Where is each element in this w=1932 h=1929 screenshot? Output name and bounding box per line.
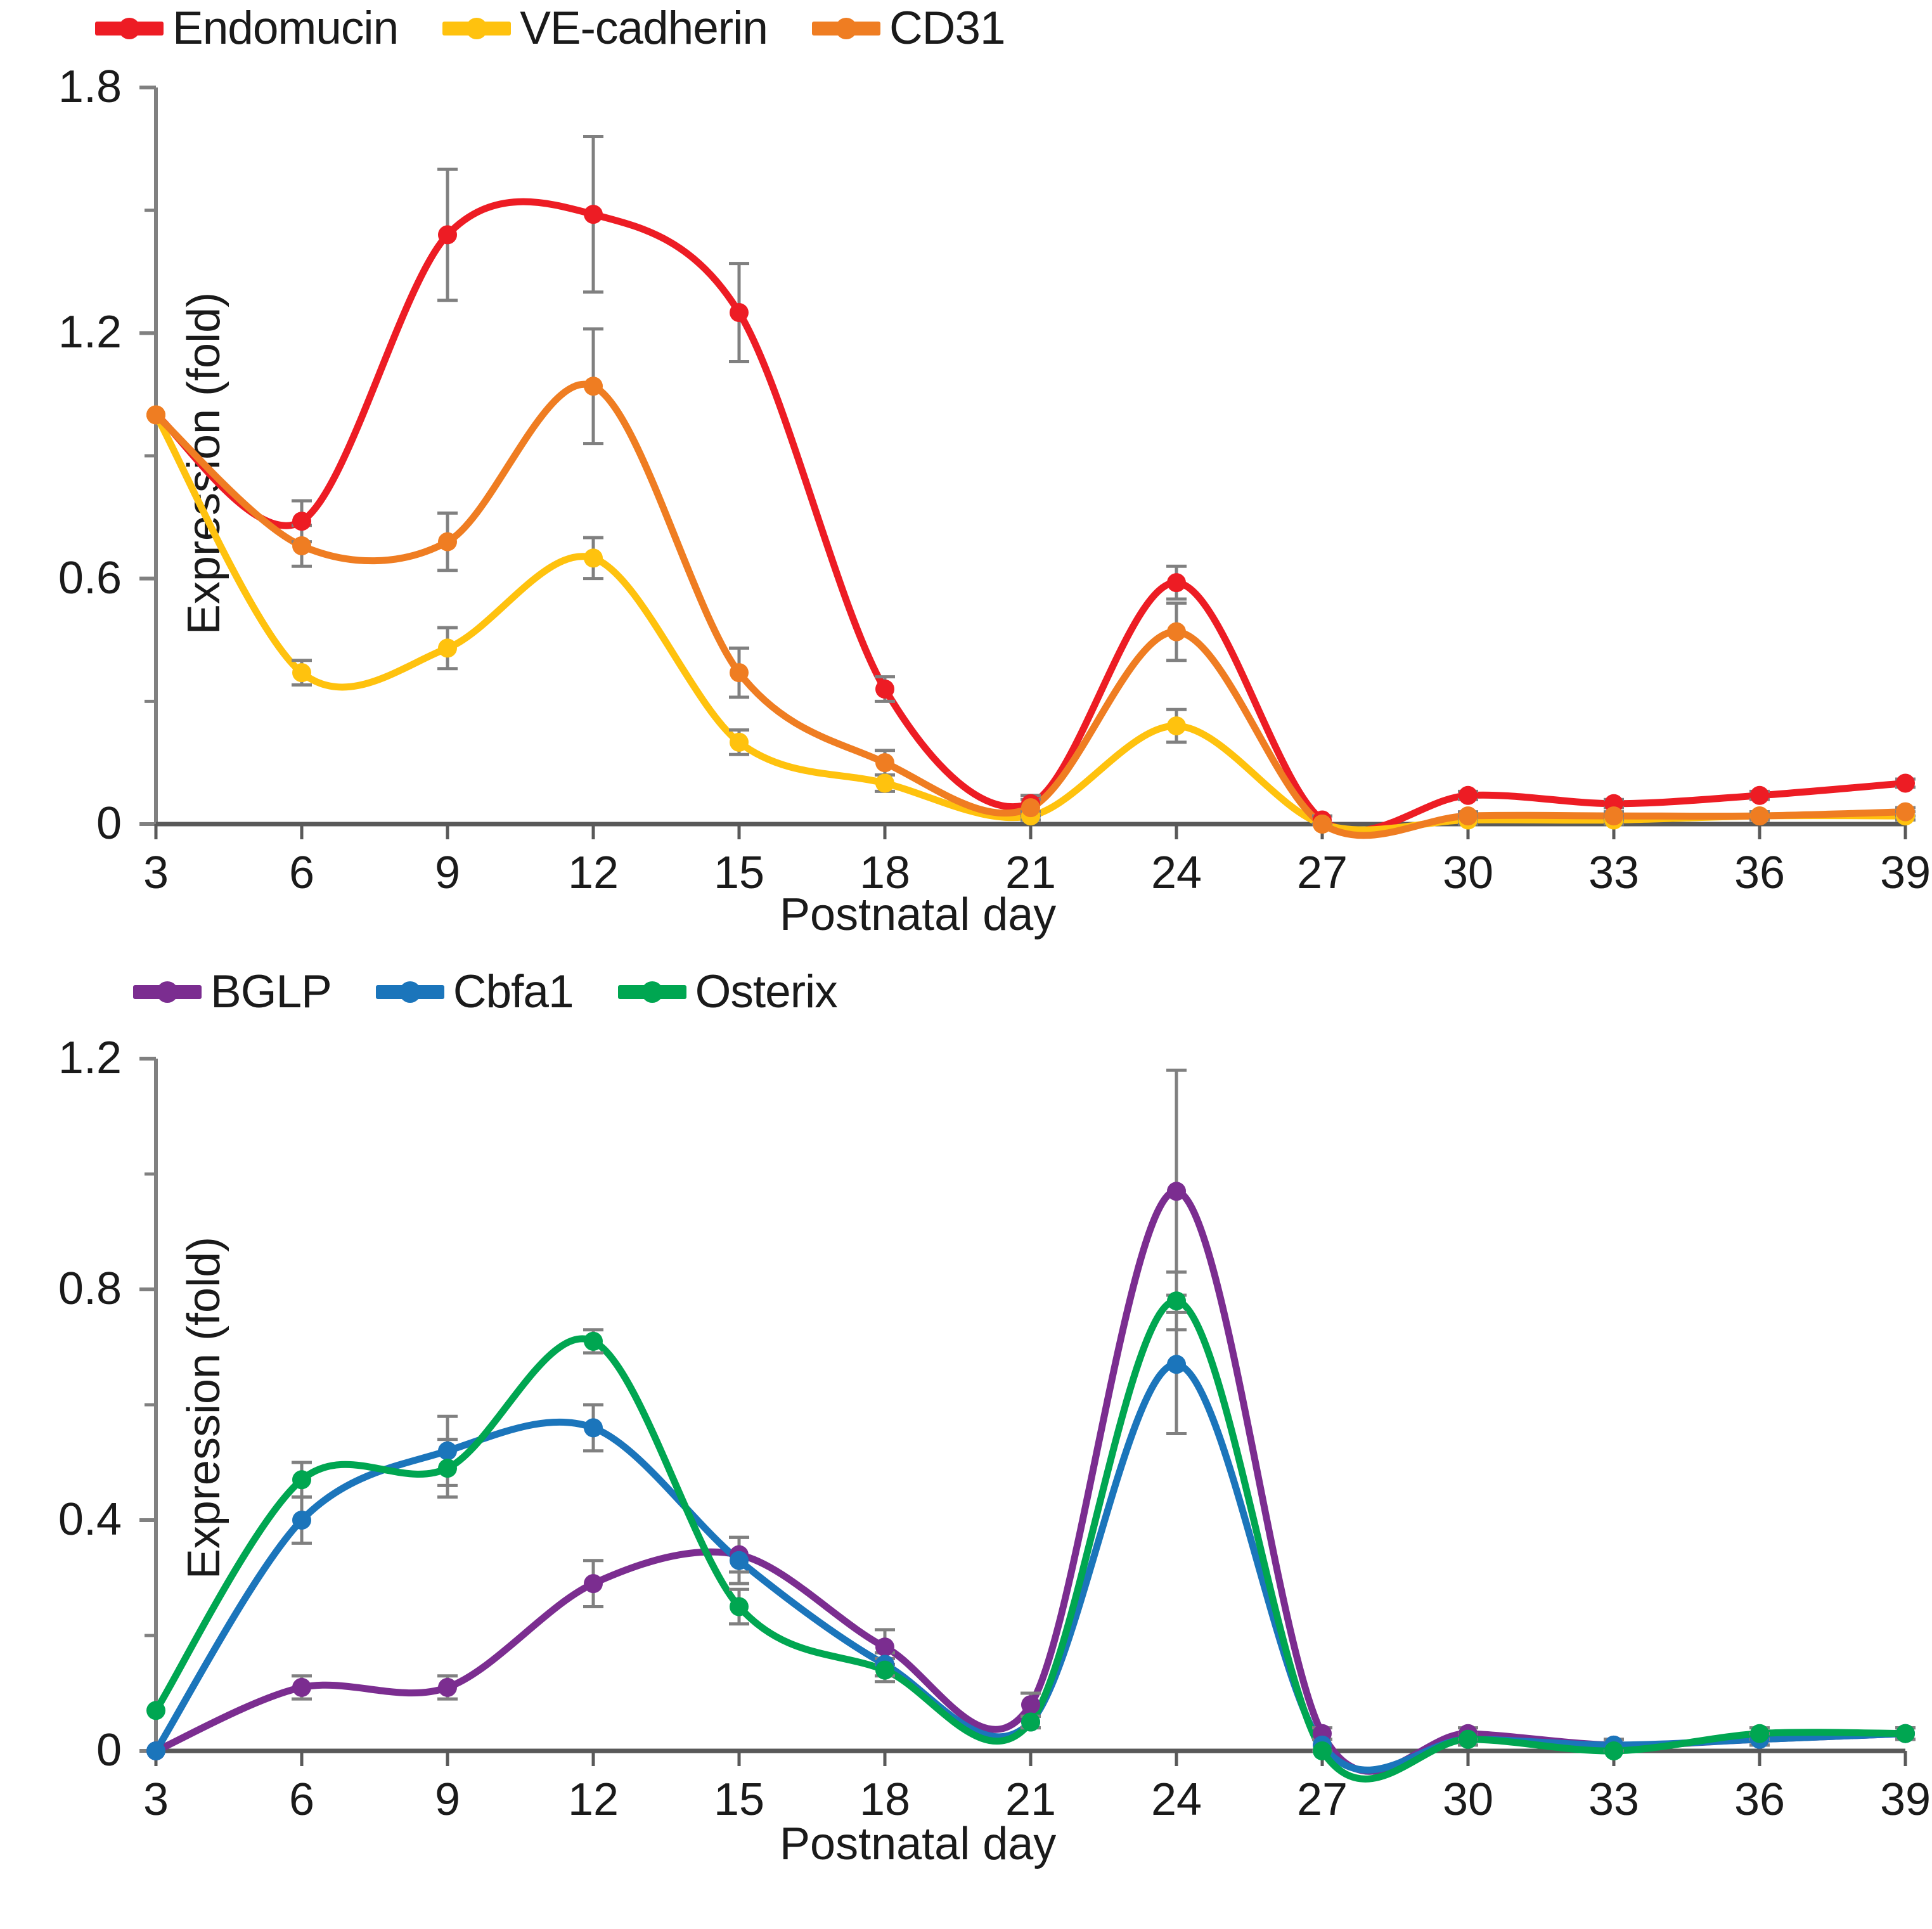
error-bars-endomucin [292, 136, 1916, 824]
x-tick-label: 39 [1848, 847, 1932, 899]
x-tick-label: 21 [974, 1774, 1088, 1826]
y-tick-label: 0.6 [0, 552, 122, 604]
x-tick-label: 21 [974, 847, 1088, 899]
x-tick-label: 12 [536, 847, 650, 899]
x-tick-label: 15 [682, 847, 796, 899]
x-tick-label: 36 [1703, 1774, 1817, 1826]
x-tick-label: 39 [1848, 1774, 1932, 1826]
markers-ve-cadherin [146, 405, 1915, 834]
series-bglp [156, 1191, 1905, 1771]
x-tick-label: 12 [536, 1774, 650, 1826]
x-tick-label: 30 [1411, 1774, 1525, 1826]
x-tick-label: 30 [1411, 847, 1525, 899]
y-tick-label: 0 [0, 797, 122, 849]
y-tick-label: 0 [0, 1724, 122, 1776]
x-tick-label: 33 [1557, 847, 1671, 899]
x-tick-label: 3 [99, 847, 213, 899]
x-tick-label: 15 [682, 1774, 796, 1826]
x-tick-label: 24 [1119, 847, 1233, 899]
x-tick-label: 33 [1557, 1774, 1671, 1826]
x-tick-label: 27 [1265, 1774, 1379, 1826]
x-tick-label: 6 [245, 847, 359, 899]
x-tick-label: 18 [828, 1774, 942, 1826]
y-tick-label: 0.8 [0, 1263, 122, 1315]
chart-panel-osteogenic: BGLPCbfa1Osterix Expression (fold) Postn… [0, 964, 1932, 1929]
series-cd31 [156, 384, 1905, 835]
x-tick-label: 27 [1265, 847, 1379, 899]
x-tick-label: 36 [1703, 847, 1817, 899]
chart-panel-endothelial: EndomucinVE-cadherinCD31 Expression (fol… [0, 0, 1932, 964]
y-tick-label: 1.8 [0, 61, 122, 113]
plot-area-endothelial [0, 0, 1932, 964]
x-tick-label: 6 [245, 1774, 359, 1826]
markers-cd31 [146, 377, 1915, 834]
x-tick-label: 9 [390, 847, 505, 899]
y-tick-label: 1.2 [0, 1032, 122, 1084]
x-tick-label: 18 [828, 847, 942, 899]
series-endomucin [156, 202, 1905, 830]
error-bars-osterix [292, 1272, 1916, 1745]
series-ve-cadherin [156, 415, 1905, 830]
x-tick-label: 9 [390, 1774, 505, 1826]
x-tick-label: 3 [99, 1774, 213, 1826]
x-tick-label: 24 [1119, 1774, 1233, 1826]
y-tick-label: 0.4 [0, 1494, 122, 1545]
y-tick-label: 1.2 [0, 306, 122, 358]
